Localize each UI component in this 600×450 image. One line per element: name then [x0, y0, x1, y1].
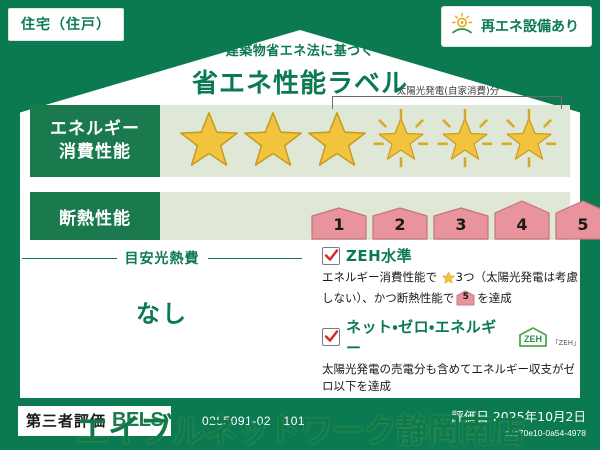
star-rating	[178, 107, 560, 169]
label-root: 住宅（住戸） 再エネ設備あり 建築物省エネ法に基づく 省エネ性能ラベル	[0, 0, 600, 450]
energy-performance-row: エネルギー 消費性能 太陽光発電(自家消費)分	[30, 105, 570, 177]
insulation-grade-2: 2	[371, 207, 429, 240]
zeh-desc-part3: を達成	[477, 291, 512, 305]
zeh-logo-caption: 「ZEH」	[552, 338, 580, 348]
inline-grade-value: 5	[456, 290, 475, 306]
insulation-grade-list: 1234567	[310, 192, 600, 240]
evaluation-date: 評価日 2025年10月2日	[451, 406, 586, 425]
utility-cost-section: 目安光熱費 なし	[22, 248, 302, 329]
insulation-grade-3: 3	[432, 207, 490, 240]
footer-bar: 第三者評価 BELS 0285091-02 101 評価日 2025年10月2日…	[0, 398, 600, 450]
svg-text:ZEH: ZEH	[524, 334, 542, 344]
energy-stars-panel: 太陽光発電(自家消費)分	[160, 105, 570, 177]
utility-cost-heading: 目安光熱費	[22, 248, 302, 268]
zeh-standard-title: ZEH水準	[346, 245, 412, 266]
insulation-performance-row: 断熱性能 1234567	[30, 192, 570, 240]
evaluation-info: 評価日 2025年10月2日 cae70e10-0a54-4978	[451, 406, 586, 438]
zeh-standard-header: ZEH水準	[322, 245, 580, 266]
rule-right	[208, 258, 303, 259]
building-type-badge: 住宅（住戸）	[8, 8, 124, 41]
insulation-grade-4: 4	[493, 200, 551, 240]
bels-number: 0285091-02 101	[202, 412, 305, 429]
zeh-house-icon: ZEH	[516, 326, 550, 348]
renewable-equipment-badge: 再エネ設備あり	[441, 6, 592, 47]
third-party-label: 第三者評価	[26, 410, 106, 431]
zeh-item-standard: ZEH水準 エネルギー消費性能で 3つ（太陽光発電は考慮しない）、かつ断熱性能で…	[322, 245, 580, 308]
zeh-netzero-description: 太陽光発電の売電分も含めてエネルギー収支がゼロ以下を達成	[322, 361, 580, 397]
rule-left	[22, 258, 117, 259]
star-filled	[178, 107, 240, 169]
insulation-performance-label: 断熱性能	[30, 192, 160, 240]
grade-value: 4	[493, 215, 551, 234]
zeh-netzero-header: ネット・ゼロ・エネルギー ZEH 「ZEH」	[322, 316, 580, 358]
energy-performance-label: エネルギー 消費性能	[30, 105, 160, 177]
zeh-standard-checkbox[interactable]	[322, 247, 340, 265]
star-solar	[370, 107, 432, 169]
star-solar	[434, 107, 496, 169]
check-icon	[324, 329, 339, 344]
bels-logo: BELS	[112, 409, 163, 432]
utility-cost-title: 目安光熱費	[125, 248, 200, 268]
sun-icon	[450, 12, 474, 40]
inline-grade-badge: 5	[456, 290, 475, 306]
grade-value: 3	[432, 215, 490, 234]
bels-badge: 第三者評価 BELS	[18, 406, 171, 436]
insulation-grades-panel: 1234567	[160, 192, 570, 240]
zeh-standard-description: エネルギー消費性能で 3つ（太陽光発電は考慮しない）、かつ断熱性能で 5 を達成	[322, 269, 580, 308]
zeh-section: ZEH水準 エネルギー消費性能で 3つ（太陽光発電は考慮しない）、かつ断熱性能で…	[322, 245, 580, 404]
insulation-grade-5: 5	[554, 200, 600, 240]
insulation-label-text: 断熱性能	[59, 204, 131, 229]
grade-value: 2	[371, 215, 429, 234]
star-solar	[498, 107, 560, 169]
renewable-label: 再エネ設備あり	[481, 16, 579, 36]
zeh-netzero-title: ネット・ゼロ・エネルギー	[346, 316, 507, 358]
energy-label-line1: エネルギー	[50, 118, 140, 141]
building-type-label: 住宅（住戸）	[21, 17, 111, 33]
grade-value: 5	[554, 215, 600, 234]
evaluation-id: cae70e10-0a54-4978	[451, 428, 586, 438]
inline-star-icon	[442, 271, 455, 290]
check-icon	[324, 248, 339, 263]
zeh-item-netzero: ネット・ゼロ・エネルギー ZEH 「ZEH」 太陽光発電の売電分も含めてエネルギ…	[322, 316, 580, 397]
star-filled	[242, 107, 304, 169]
title-block: 建築物省エネ法に基づく 省エネ性能ラベル	[0, 40, 600, 100]
zeh-logo: ZEH 「ZEH」	[516, 326, 580, 348]
star-filled	[306, 107, 368, 169]
insulation-grade-1: 1	[310, 207, 368, 240]
energy-label-line2: 消費性能	[59, 141, 131, 164]
zeh-netzero-checkbox[interactable]	[322, 328, 340, 346]
utility-cost-value: なし	[22, 294, 302, 329]
zeh-desc-part1: エネルギー消費性能で	[322, 270, 437, 284]
page-title: 省エネ性能ラベル	[0, 63, 600, 100]
grade-value: 1	[310, 215, 368, 234]
